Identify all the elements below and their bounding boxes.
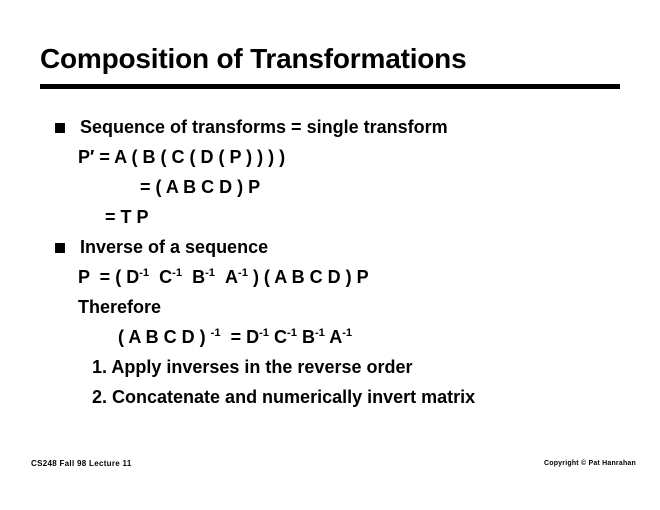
slide-body: Sequence of transforms = single transfor… <box>0 112 660 412</box>
equation-line-1: P′ = A ( B ( C ( D ( P ) ) ) ) <box>0 142 660 172</box>
bullet-item-sequence: Sequence of transforms = single transfor… <box>0 112 660 142</box>
page-title: Composition of Transformations <box>40 42 466 76</box>
numbered-item-2: 2. Concatenate and numerically invert ma… <box>0 382 660 412</box>
numbered-item-1: 1. Apply inverses in the reverse order <box>0 352 660 382</box>
bullet-label-inverse: Inverse of a sequence <box>80 232 268 262</box>
square-bullet-icon <box>55 123 65 133</box>
therefore-label: Therefore <box>0 292 660 322</box>
equation-line-5-text: ( A B C D ) -1 = D-1 C-1 B-1 A-1 <box>118 327 352 347</box>
numbered-item-2-label: Concatenate and numerically invert matri… <box>112 387 475 407</box>
equation-line-2: = ( A B C D ) P <box>0 172 660 202</box>
numbered-item-2-number: 2. <box>92 387 107 407</box>
title-divider <box>40 84 620 89</box>
footer-course-info: CS248 Fall 98 Lecture 11 <box>31 458 132 470</box>
bullet-item-inverse: Inverse of a sequence <box>0 232 660 262</box>
bullet-label-sequence: Sequence of transforms = single transfor… <box>80 112 448 142</box>
numbered-item-1-number: 1. <box>92 357 107 377</box>
numbered-item-1-label: Apply inverses in the reverse order <box>111 357 412 377</box>
equation-line-5: ( A B C D ) -1 = D-1 C-1 B-1 A-1 <box>0 322 660 352</box>
equation-line-4: P = ( D-1 C-1 B-1 A-1 ) ( A B C D ) P <box>0 262 660 292</box>
square-bullet-icon <box>55 243 65 253</box>
footer-copyright: Copyright © Pat Hanrahan <box>544 458 636 470</box>
slide-canvas: Composition of Transformations Sequence … <box>0 0 660 510</box>
equation-line-4-text: P = ( D-1 C-1 B-1 A-1 ) ( A B C D ) P <box>78 267 369 287</box>
equation-line-3: = T P <box>0 202 660 232</box>
